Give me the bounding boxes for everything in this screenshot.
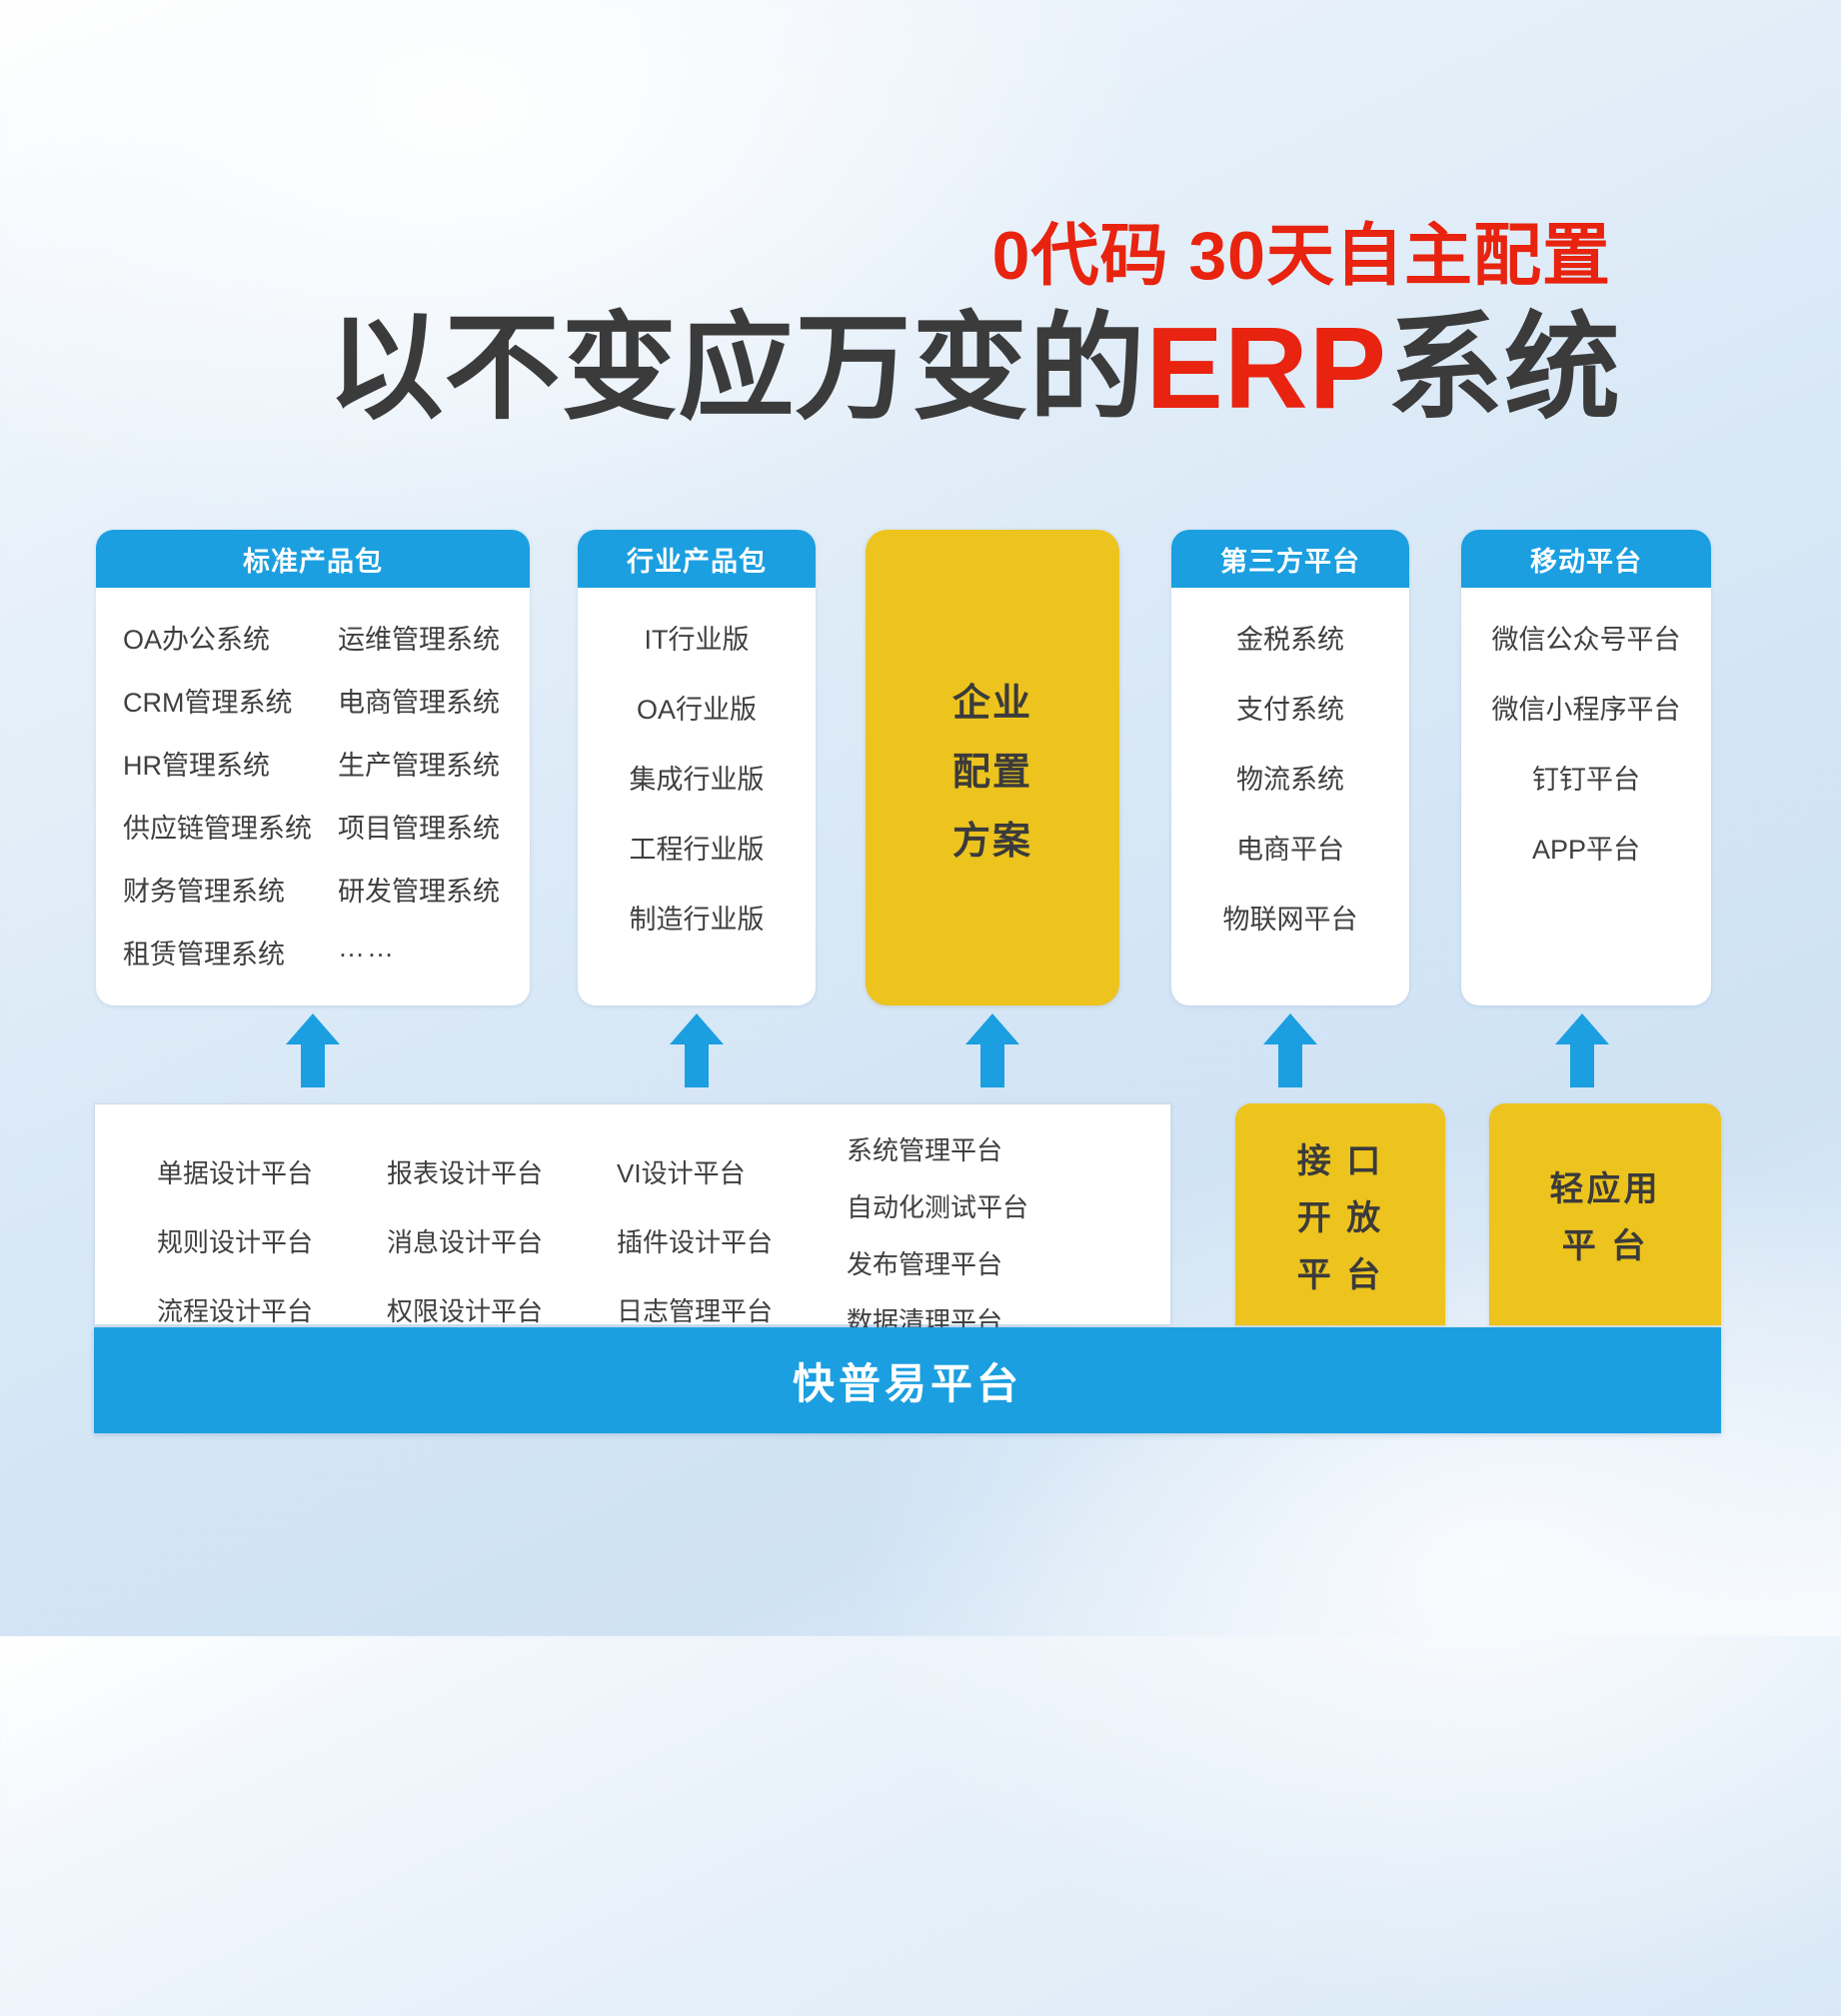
list-item[interactable]: VI设计平台 [617, 1153, 847, 1190]
page-title-part1: 以不变应万变的 [327, 303, 1145, 433]
list-item[interactable]: 金税系统 [1236, 618, 1344, 657]
platform-design-grid: 单据设计平台 规则设计平台 流程设计平台 报表设计平台 消息设计平台 权限设计平… [95, 1104, 1170, 1360]
list-item[interactable]: 消息设计平台 [387, 1222, 617, 1259]
page-title-part2: 系统 [1387, 303, 1621, 433]
list-item[interactable]: 报表设计平台 [387, 1153, 617, 1190]
list-item[interactable]: 规则设计平台 [157, 1222, 387, 1259]
list-item[interactable]: 流程设计平台 [157, 1291, 387, 1328]
card-title-mobile: 移动平台 [1461, 530, 1711, 588]
third-party-platform-list: 金税系统 支付系统 物流系统 电商平台 物联网平台 [1171, 618, 1409, 937]
platform-design-panel: 单据设计平台 规则设计平台 流程设计平台 报表设计平台 消息设计平台 权限设计平… [94, 1103, 1171, 1325]
arrow-up-icon [1263, 1013, 1317, 1087]
list-item[interactable]: OA行业版 [637, 688, 757, 727]
platform-column-3: VI设计平台 插件设计平台 日志管理平台 [617, 1130, 847, 1338]
list-item[interactable]: 制造行业版 [630, 898, 765, 937]
kicker-text: 0代码 30天自主配置 [0, 222, 1611, 290]
list-item[interactable]: 权限设计平台 [387, 1291, 617, 1328]
center-card-line: 配置 [952, 741, 1032, 796]
footer-platform-label: 快普易平台 [793, 1350, 1022, 1411]
center-card-line: 方案 [952, 810, 1032, 865]
list-item[interactable]: 微信公众号平台 [1492, 618, 1681, 657]
page-title-highlight: ERP [1145, 303, 1387, 433]
list-item[interactable]: 日志管理平台 [617, 1291, 847, 1328]
list-item[interactable]: 项目管理系统 [338, 807, 528, 846]
card-third-party-platform[interactable]: 第三方平台 金税系统 支付系统 物流系统 电商平台 物联网平台 [1171, 530, 1409, 1006]
list-item[interactable]: 支付系统 [1236, 688, 1344, 727]
list-item[interactable]: 发布管理平台 [847, 1244, 1076, 1281]
card-body-standard: OA办公系统 运维管理系统 CRM管理系统 电商管理系统 HR管理系统 生产管理… [96, 588, 530, 1006]
list-item[interactable]: HR管理系统 [123, 744, 338, 783]
block-light-application-platform[interactable]: 轻应用 平 台 [1489, 1103, 1721, 1325]
block-open-interface-platform[interactable]: 接 口 开 放 平 台 [1235, 1103, 1445, 1325]
list-item[interactable]: 工程行业版 [630, 828, 765, 867]
card-title-industry: 行业产品包 [578, 530, 816, 588]
card-title-third-party: 第三方平台 [1171, 530, 1409, 588]
list-item[interactable]: 财务管理系统 [123, 870, 338, 909]
infographic-canvas: 0代码 30天自主配置 以不变应万变的ERP系统 标准产品包 OA办公系统 运维… [0, 0, 1841, 1636]
platform-column-2: 报表设计平台 消息设计平台 权限设计平台 [387, 1130, 617, 1338]
list-item[interactable]: 电商平台 [1236, 828, 1344, 867]
card-industry-product-package[interactable]: 行业产品包 IT行业版 OA行业版 集成行业版 工程行业版 制造行业版 [578, 530, 816, 1006]
list-item[interactable]: APP平台 [1532, 828, 1640, 867]
list-item[interactable]: IT行业版 [645, 618, 750, 657]
mobile-platform-list: 微信公众号平台 微信小程序平台 钉钉平台 APP平台 [1461, 618, 1711, 867]
platform-column-1: 单据设计平台 规则设计平台 流程设计平台 [157, 1130, 387, 1338]
list-item[interactable]: 钉钉平台 [1532, 758, 1640, 797]
list-item[interactable]: 自动化测试平台 [847, 1187, 1076, 1224]
list-item[interactable]: 运维管理系统 [338, 618, 528, 657]
list-item[interactable]: 集成行业版 [630, 758, 765, 797]
block-line: 轻应用 [1550, 1161, 1661, 1210]
list-item[interactable]: 物联网平台 [1223, 898, 1358, 937]
footer-platform-bar[interactable]: 快普易平台 [94, 1327, 1721, 1433]
arrow-up-icon [286, 1013, 340, 1087]
card-standard-product-package[interactable]: 标准产品包 OA办公系统 运维管理系统 CRM管理系统 电商管理系统 HR管理系… [96, 530, 530, 1006]
list-item[interactable]: 物流系统 [1236, 758, 1344, 797]
block-line: 开 放 [1297, 1190, 1383, 1239]
list-item[interactable]: 插件设计平台 [617, 1222, 847, 1259]
list-item[interactable]: 租赁管理系统 [123, 933, 338, 972]
card-body-mobile: 微信公众号平台 微信小程序平台 钉钉平台 APP平台 [1461, 588, 1711, 1006]
card-enterprise-configuration-plan[interactable]: 企业 配置 方案 [866, 530, 1119, 1006]
card-body-industry: IT行业版 OA行业版 集成行业版 工程行业版 制造行业版 [578, 588, 816, 1006]
list-item[interactable]: CRM管理系统 [123, 681, 338, 720]
list-item[interactable]: 电商管理系统 [338, 681, 528, 720]
list-item[interactable]: 供应链管理系统 [123, 807, 338, 846]
block-line: 接 口 [1297, 1133, 1383, 1182]
page-title: 以不变应万变的ERP系统 [0, 310, 1621, 426]
list-item[interactable]: 微信小程序平台 [1492, 688, 1681, 727]
card-title-standard: 标准产品包 [96, 530, 530, 588]
card-mobile-platform[interactable]: 移动平台 微信公众号平台 微信小程序平台 钉钉平台 APP平台 [1461, 530, 1711, 1006]
list-item[interactable]: OA办公系统 [123, 618, 338, 657]
arrow-up-icon [965, 1013, 1019, 1087]
list-item[interactable]: 生产管理系统 [338, 744, 528, 783]
center-card-line: 企业 [952, 672, 1032, 727]
card-body-third-party: 金税系统 支付系统 物流系统 电商平台 物联网平台 [1171, 588, 1409, 1006]
block-line: 平 台 [1562, 1218, 1648, 1267]
arrow-up-icon [670, 1013, 724, 1087]
list-item[interactable]: 研发管理系统 [338, 870, 528, 909]
standard-product-list: OA办公系统 运维管理系统 CRM管理系统 电商管理系统 HR管理系统 生产管理… [96, 618, 530, 972]
list-item[interactable]: 系统管理平台 [847, 1130, 1076, 1167]
industry-product-list: IT行业版 OA行业版 集成行业版 工程行业版 制造行业版 [578, 618, 816, 937]
arrow-up-icon [1555, 1013, 1609, 1087]
list-item-ellipsis: …… [338, 933, 528, 972]
platform-column-4: 系统管理平台 自动化测试平台 发布管理平台 数据清理平台 [847, 1130, 1076, 1338]
block-line: 平 台 [1297, 1247, 1383, 1296]
list-item[interactable]: 单据设计平台 [157, 1153, 387, 1190]
